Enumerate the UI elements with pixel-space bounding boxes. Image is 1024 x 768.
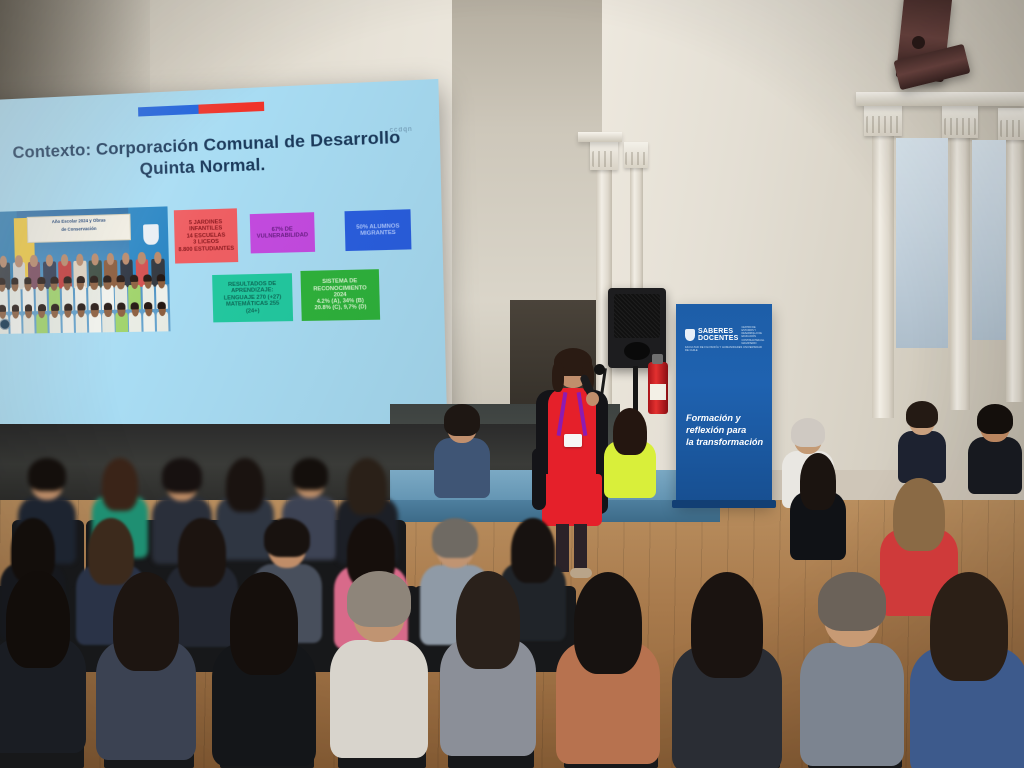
photo-person — [144, 302, 152, 309]
audience-member-front-7 — [672, 560, 782, 764]
presenter-id-badge — [564, 434, 582, 447]
photo-person — [143, 274, 151, 281]
audience-member-back-6-hair — [347, 458, 388, 514]
photo-person — [64, 303, 72, 310]
banner-tagline-line-2: reflexión para — [686, 424, 766, 436]
photo-person — [11, 277, 19, 284]
audience-member-front-8-torso — [800, 643, 904, 766]
photo-person — [138, 252, 146, 264]
chilean-flag-blue-stripe — [138, 105, 199, 117]
audience-member-front-4-torso — [330, 640, 428, 758]
presenter-hair-left — [552, 362, 564, 392]
cornice-center — [578, 132, 622, 142]
banner-logo-line-1: SABERES — [698, 328, 739, 336]
photo-person — [154, 252, 162, 264]
column-capital-right-1 — [864, 104, 902, 136]
photo-person — [117, 275, 125, 282]
audience-member-front-2 — [96, 560, 196, 752]
audience-member-front-7-hair — [691, 572, 764, 678]
photo-person — [50, 276, 58, 283]
fire-extinguisher-label — [650, 384, 666, 400]
sistema-reconocimiento-box-line-5: 20.8% (C), 9,7% (D) — [314, 305, 368, 313]
banner-tagline: Formación y reflexión para la transforma… — [686, 412, 766, 448]
photo-person — [76, 254, 84, 266]
pilaster-right-2 — [950, 120, 970, 410]
photo-person — [90, 303, 98, 310]
seated-man-glasses-left-hair — [791, 418, 825, 448]
audience-member-mid-6-hair — [432, 518, 478, 558]
audience-member-front-4-hair — [347, 571, 412, 627]
alumnos-migrantes-box: 50% ALUMNOSMIGRANTES — [344, 209, 411, 251]
audience-member-front-8 — [800, 560, 904, 758]
photo-person — [77, 303, 85, 310]
pilaster-right-1 — [872, 118, 894, 418]
jardines-escuelas-box: 5 JARDINESINFANTILES14 ESCUELAS3 LICEOS8… — [174, 208, 238, 263]
seated-woman-yellow-vest — [604, 402, 656, 494]
photo-person — [63, 276, 71, 283]
photo-caption-line-2: de Conservación — [28, 223, 130, 234]
photo-person — [117, 302, 125, 309]
banner-tagline-line-1: Formación y — [686, 412, 766, 424]
vulnerabilidad-box: 67% DEVULNERABILIDAD — [250, 212, 315, 253]
resultados-aprendizaje-box-line-4: MATEMÁTICAS 255 — [224, 301, 282, 309]
slide-title: Contexto: Corporación Comunal de Desarro… — [0, 126, 418, 186]
photo-person — [61, 254, 69, 266]
photo-school-crest — [143, 224, 160, 244]
audience-member-front-6-hair — [574, 572, 643, 674]
chilean-flag-red-stripe — [198, 102, 264, 114]
slide-title-line-2: Quinta Normal. — [140, 156, 266, 179]
vulnerabilidad-box-line-2: VULNERABILIDAD — [257, 232, 309, 240]
seated-woman-black-top-right-hair — [800, 453, 837, 510]
seated-man-blue-blazer-hair — [444, 404, 481, 436]
audience-member-front-9 — [910, 560, 1024, 768]
photo-person — [103, 275, 111, 282]
banner-base — [672, 500, 776, 508]
seated-man-blue-blazer-torso — [434, 438, 490, 498]
audience-member-back-3-hair — [162, 458, 202, 492]
university-shield-icon — [685, 329, 695, 341]
seated-man-blue-blazer — [434, 398, 490, 494]
seated-woman-black-top-right — [790, 446, 846, 556]
photo-children-rows — [0, 271, 171, 334]
banner-logo-line-2: DOCENTES — [698, 335, 739, 343]
photo-person — [157, 274, 165, 281]
photo-caption-banner: Año Escolar 2024 y Obras de Conservación — [27, 214, 131, 244]
column-capital-inner — [624, 142, 648, 168]
seated-man-dark-suit-hair — [977, 404, 1013, 435]
pilaster-right-3 — [1006, 122, 1024, 402]
photo-person — [11, 304, 19, 311]
banner-logo: SABERES DOCENTES CENTRO DE ESTUDIOS Y DE… — [685, 326, 765, 352]
audience-member-front-9-hair — [930, 572, 1008, 680]
photo-person — [37, 277, 45, 284]
photo-person — [76, 276, 84, 283]
presenter-arm-left — [532, 448, 546, 510]
photo-person — [158, 301, 166, 308]
audience-member-front-8-hair — [818, 572, 887, 631]
beam-bolt — [912, 36, 925, 49]
photo-person — [15, 255, 22, 267]
seated-man-dark-suit-torso — [968, 437, 1022, 494]
slide-watermark: ccdqn — [390, 127, 413, 134]
audience-member-back-1-hair — [28, 458, 66, 491]
banner-logo-subtitle: FACULTAD DE FILOSOFÍA Y HUMANIDADES UNIV… — [685, 346, 765, 352]
audience-member-front-2-hair — [113, 572, 179, 672]
photo-person — [51, 303, 59, 310]
sistema-reconocimiento-box: SISTEMA DERECONOCIMIENTO20244.2% (A), 34… — [300, 269, 380, 321]
photo-person — [104, 302, 112, 309]
seated-woman-dark-top — [898, 396, 946, 480]
projection-screen: Contexto: Corporación Comunal de Desarro… — [0, 79, 447, 430]
photo-person — [0, 277, 6, 284]
audience-member-front-1 — [0, 560, 86, 746]
audience-member-front-4 — [330, 560, 428, 750]
pilaster-inner — [630, 152, 643, 292]
resultados-aprendizaje-box: RESULTADOS DEAPRENDIZAJE:LENGUAJE 270 (+… — [212, 273, 293, 322]
presentation-scene: Contexto: Corporación Comunal de Desarro… — [0, 0, 1024, 768]
resultados-aprendizaje-box-line-5: (24+) — [224, 307, 282, 315]
column-capital-right-3 — [998, 108, 1024, 140]
presenter-hand — [586, 392, 599, 406]
audience-member-back-2-hair — [102, 458, 139, 511]
audience-member-back-5-hair — [292, 458, 329, 490]
wall-recess-right-1 — [896, 138, 948, 348]
presenter-red-dress — [548, 388, 596, 518]
audience-member-front-3 — [212, 560, 316, 758]
column-capital-right-2 — [942, 106, 978, 138]
photo-person — [0, 304, 6, 311]
audience-member-front-1-hair — [6, 571, 69, 668]
photo-person — [130, 274, 138, 281]
seated-woman-dark-top-hair — [906, 401, 938, 428]
photo-person — [24, 304, 32, 311]
audience-member-front-5-hair — [456, 571, 519, 669]
photo-person — [24, 277, 32, 284]
photo-person — [38, 304, 46, 311]
photo-person — [131, 302, 139, 309]
seated-woman-yellow-vest-hair — [613, 408, 647, 456]
photo-person — [30, 255, 38, 267]
wall-recess-right-2 — [972, 140, 1006, 340]
alumnos-migrantes-box-line-2: MIGRANTES — [356, 230, 399, 238]
banner-logo-side-text: CENTRO DE ESTUDIOS Y DESARROLLO DE EDUCA… — [742, 326, 766, 345]
cornice-right — [856, 92, 1024, 106]
slide-group-photo: Año Escolar 2024 y Obras de Conservación — [0, 206, 171, 334]
photo-person — [90, 275, 98, 282]
audience-member-front-6 — [556, 560, 660, 756]
photo-person — [91, 253, 99, 265]
jardines-escuelas-box-line-5: 8.800 ESTUDIANTES — [178, 245, 234, 253]
saberes-docentes-rollup-banner: SABERES DOCENTES CENTRO DE ESTUDIOS Y DE… — [676, 304, 772, 504]
audience-member-back-4-hair — [226, 458, 264, 512]
audience-member-front-3-hair — [230, 572, 299, 675]
seated-woman-red-print-blouse-hair — [893, 478, 944, 551]
photo-person — [45, 254, 53, 266]
banner-tagline-line-3: la transformación — [686, 436, 766, 448]
seated-man-dark-suit — [968, 398, 1022, 490]
column-capital-center — [590, 140, 618, 170]
audience-member-mid-4-hair — [264, 518, 310, 558]
audience-member-front-5 — [440, 560, 536, 748]
